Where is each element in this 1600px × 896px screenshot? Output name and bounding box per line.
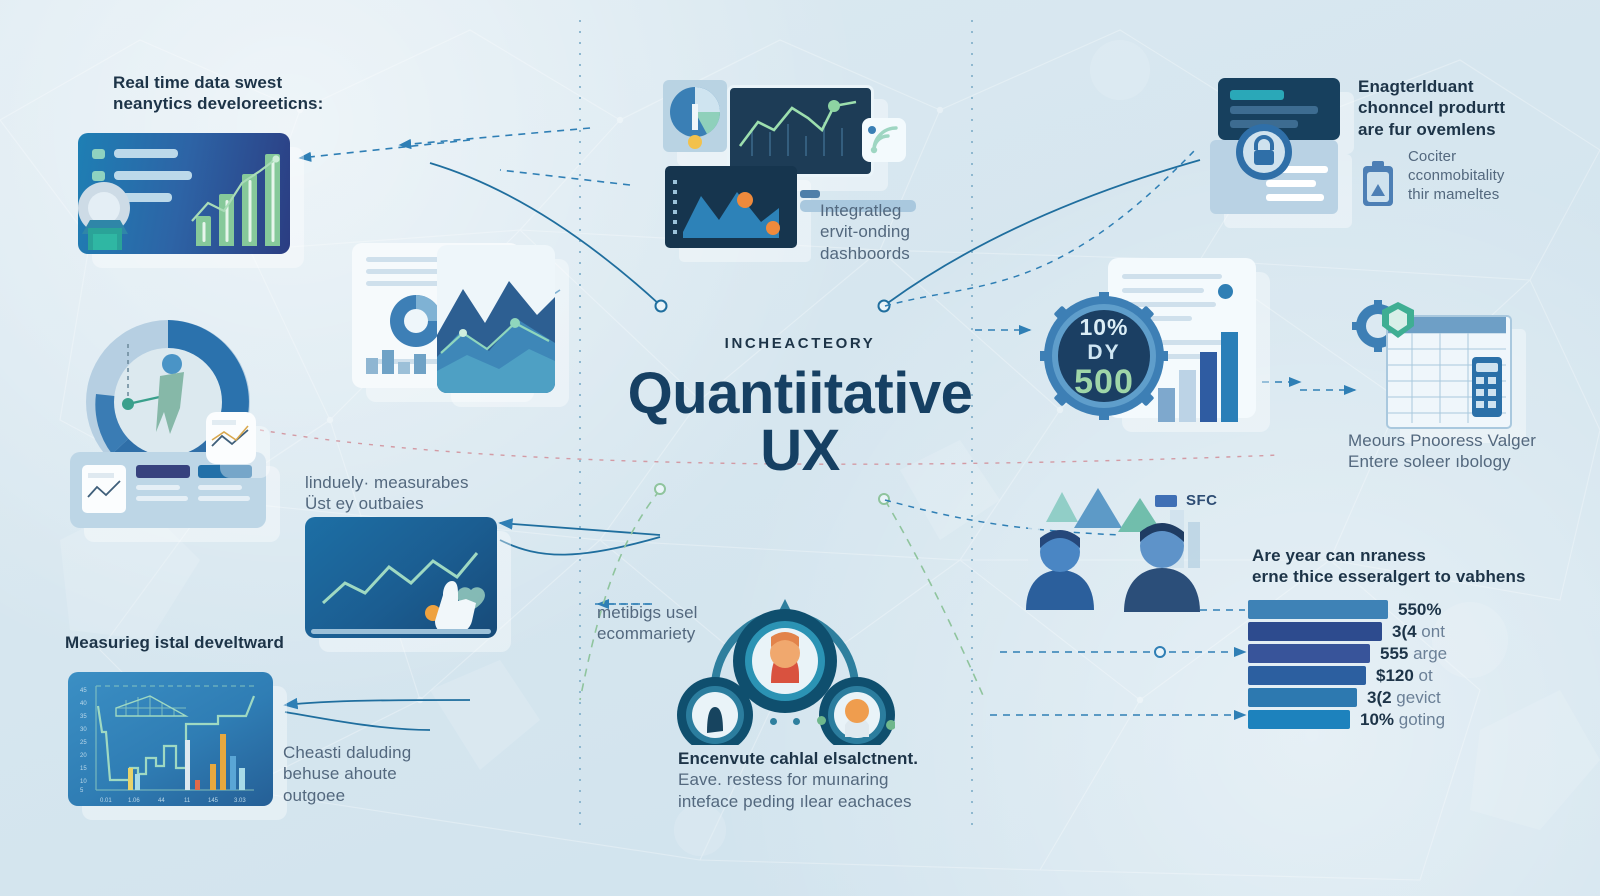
title-line1: Quantiitative <box>600 366 1000 423</box>
step-line-chart: 454035 302520 15105 0.011.0644 111453.03 <box>68 672 273 806</box>
horizontal-bar-chart: 550%3(4 ont555 arge$120 ot3(2 gevict10% … <box>1248 600 1578 730</box>
top-right-label: Enagterlduant chonncel produrtt are fur … <box>1358 76 1558 140</box>
bar-label-0: 550% <box>1398 600 1441 620</box>
top-left-label: Real time data swest neanytics develoree… <box>113 72 373 115</box>
wifi-signal-icon <box>862 118 908 164</box>
blue-chip-icon <box>1155 495 1177 507</box>
infographic-canvas: Real time data swest neanytics develoree… <box>0 0 1600 896</box>
badge-shield-icon <box>1378 300 1418 340</box>
page-title: INCHEACTEORY Quantiitative UX <box>600 335 1000 480</box>
top-right-label-line3: are fur ovemlens <box>1358 119 1558 140</box>
gauge-readout: 10% DY 500 <box>1040 300 1168 399</box>
svg-text:5: 5 <box>80 788 84 794</box>
mid-left-label-line1: linduely· measurabes <box>305 472 535 493</box>
sfc-badge: SFC <box>1155 492 1218 510</box>
bl2-line3: outgoee <box>283 785 483 806</box>
svg-text:30: 30 <box>80 727 87 733</box>
top-center-label-line3: dashboords <box>820 243 970 264</box>
svg-text:40: 40 <box>80 701 87 707</box>
svg-text:45: 45 <box>80 688 87 694</box>
tablet-line-chart <box>727 85 874 177</box>
top-right-sub-line3: thir mameltes <box>1408 186 1598 205</box>
lock-shield-icon <box>1232 120 1296 184</box>
svg-text:3.03: 3.03 <box>234 798 246 804</box>
svg-text:44: 44 <box>158 798 165 804</box>
top-center-label-line2: ervit-onding <box>820 221 970 242</box>
bl2-line2: behuse ahoute <box>283 763 483 784</box>
bc-line2: Eave. restess for muınaring <box>678 769 928 790</box>
svg-text:35: 35 <box>80 714 87 720</box>
svg-text:25: 25 <box>80 740 87 746</box>
mid-left-label: linduely· measurabes Üst ey outbaies <box>305 472 535 515</box>
right-bar-group <box>1158 330 1250 422</box>
title-line2: UX <box>600 423 1000 480</box>
top-center-label: Integratleg ervit-onding dashboords <box>820 200 970 264</box>
gauge-big-value: 500 <box>1040 365 1168 399</box>
bar-label-5: 10% goting <box>1360 710 1445 730</box>
svg-text:11: 11 <box>184 798 191 804</box>
laptop-engagement-illustration <box>305 517 497 638</box>
svg-text:10: 10 <box>80 779 87 785</box>
svg-text:1.06: 1.06 <box>128 798 140 804</box>
cluster-dots <box>770 712 826 730</box>
bl2-line1: Cheasti daluding <box>283 742 483 763</box>
svg-text:20: 20 <box>80 753 87 759</box>
gauge-top-value: 10% <box>1040 314 1168 341</box>
bottom-left-label: Measurieg istal develtward <box>65 632 365 653</box>
trend-line-overlay <box>186 151 286 241</box>
bars-heading: Are year can nraness erne thice esseralg… <box>1252 545 1582 588</box>
top-right-sub-label: Cociter cconmobitality thir mameltes <box>1408 148 1598 204</box>
area-chart-icon <box>665 166 797 248</box>
bar-label-1: 3(4 ont <box>1392 622 1445 642</box>
bc-line1: Encenvute cahlal elsalctnent. <box>678 748 928 769</box>
bars-heading-line1: Are year can nraness <box>1252 545 1582 566</box>
gear-icon <box>62 178 182 258</box>
sfc-label: SFC <box>1186 492 1218 509</box>
bar-0 <box>1248 600 1388 619</box>
top-left-label-line2: neanytics develoreeticns: <box>113 93 373 114</box>
mid-right-label-line2: Entere soleer ıbology <box>1348 451 1598 472</box>
title-kicker: INCHEACTEORY <box>600 335 1000 352</box>
bottom-left-secondary-label: Cheasti daluding behuse ahoute outgoee <box>283 742 483 806</box>
top-center-label-line1: Integratleg <box>820 200 970 221</box>
top-right-label-line2: chonncel produrtt <box>1358 97 1558 118</box>
svg-text:15: 15 <box>80 766 87 772</box>
svg-text:0.01: 0.01 <box>100 798 112 804</box>
engagement-line-chart <box>305 517 497 638</box>
mountain-area-chart <box>437 245 555 393</box>
bar-4 <box>1248 688 1357 707</box>
bar-1 <box>1248 622 1382 641</box>
top-center-pill-2 <box>800 190 820 198</box>
bar-2 <box>1248 644 1370 663</box>
line-chart-icon <box>730 88 865 168</box>
laptop-area-chart <box>665 166 797 248</box>
bars-heading-line2: erne thice esseralgert to vabhens <box>1252 566 1582 587</box>
bar-3 <box>1248 666 1366 685</box>
gauge-mid-label: DY <box>1040 341 1168 365</box>
bottom-left-label-line1: Measurieg istal develtward <box>65 632 365 653</box>
clipboard-icon <box>1358 160 1398 210</box>
area-chart-illustration <box>437 245 555 393</box>
bc-line3: inteface peding ılear eachaces <box>678 791 928 812</box>
mid-left-label-line2: Üst ey outbaies <box>305 493 535 514</box>
bottom-left-chart-illustration: 454035 302520 15105 0.011.0644 111453.03 <box>68 672 273 806</box>
svg-text:145: 145 <box>208 798 219 804</box>
bar-5 <box>1248 710 1350 729</box>
top-right-sub-line1: Cociter <box>1408 148 1598 167</box>
top-left-label-line1: Real time data swest <box>113 72 373 93</box>
bottom-center-label: Encenvute cahlal elsalctnent. Eave. rest… <box>678 748 928 812</box>
bar-label-4: 3(2 gevict <box>1367 688 1441 708</box>
mid-right-label: Meours Pnooress Valger Entere soleer ıbo… <box>1348 430 1598 473</box>
top-right-label-line1: Enagterlduant <box>1358 76 1558 97</box>
mini-line-tile <box>206 412 256 464</box>
top-right-sub-line2: cconmobitality <box>1408 167 1598 186</box>
mid-right-label-line1: Meours Pnooress Valger <box>1348 430 1598 451</box>
pie-chart-icon <box>663 80 727 152</box>
bar-label-2: 555 arge <box>1380 644 1447 664</box>
bar-label-3: $120 ot <box>1376 666 1433 686</box>
pie-chart-tile <box>663 80 727 152</box>
